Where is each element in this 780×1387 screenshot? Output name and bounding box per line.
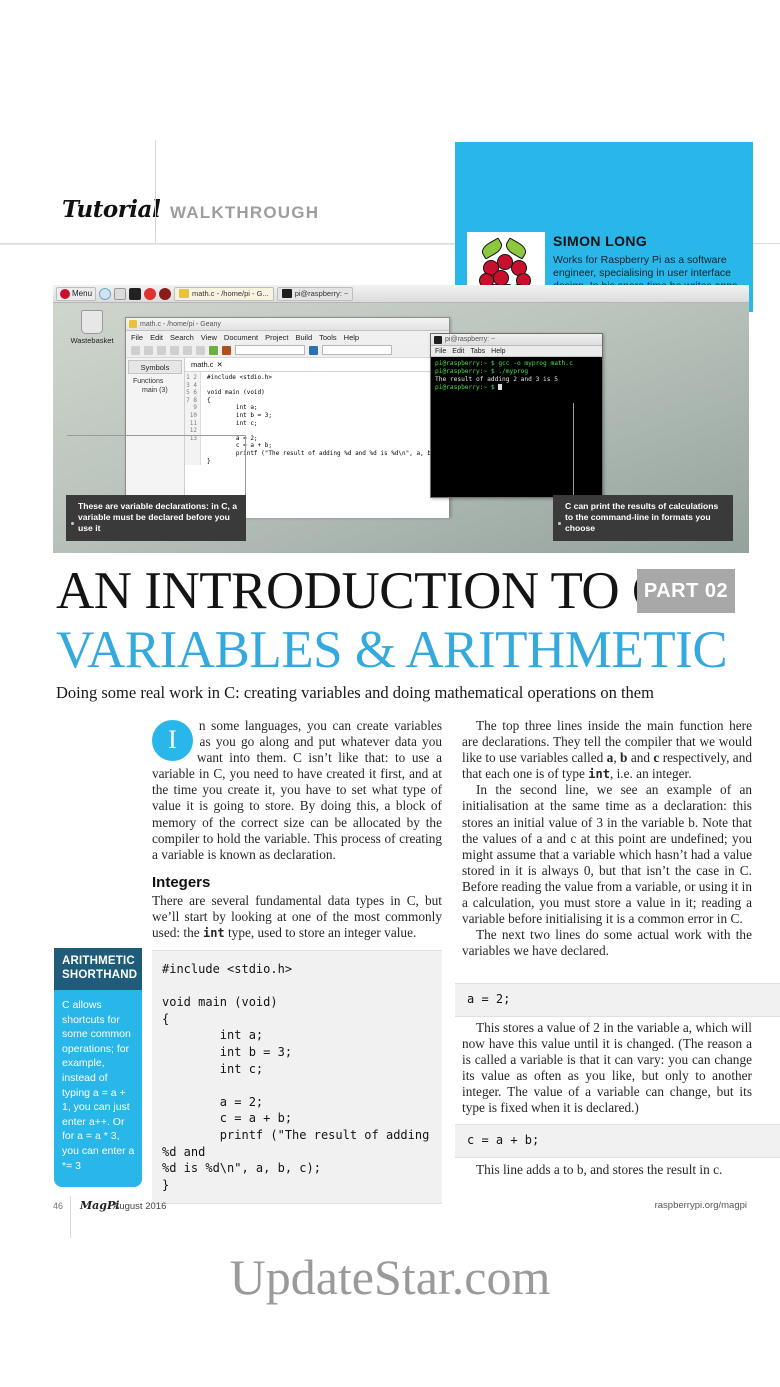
geany-menubar[interactable]: File Edit Search View Document Project B… [126, 331, 449, 343]
callout-right-text: C can print the results of calculations … [565, 501, 725, 534]
right-paragraph-3: The next two lines do some actual work w… [462, 927, 752, 959]
geany-titlebar-icon [129, 320, 137, 328]
search-icon[interactable] [309, 346, 318, 355]
raspberry-menu-icon [60, 289, 70, 299]
right-paragraph-2: In the second line, we see an example of… [462, 782, 752, 927]
author-name: SIMON LONG [553, 233, 647, 249]
compile-icon[interactable] [209, 346, 218, 355]
main-code-listing-text: #include <stdio.h> void main (void) { in… [152, 950, 442, 1204]
right-paragraph-5-wrap: This line adds a to b, and stores the re… [462, 1162, 752, 1178]
geany-menu-search[interactable]: Search [170, 333, 194, 342]
sidebar-item-main[interactable]: main (3) [126, 385, 184, 394]
new-file-icon[interactable] [131, 346, 140, 355]
revert-icon[interactable] [170, 346, 179, 355]
code-snippet-c: c = a + b; [455, 1124, 780, 1158]
editor-file-tab-close-icon[interactable]: ✕ [216, 360, 222, 369]
arithmetic-shorthand-title-1: ARITHMETIC [62, 955, 135, 969]
terminal-window-icon [282, 289, 292, 298]
header-kicker: WALKTHROUGH [170, 203, 319, 223]
geany-editor[interactable]: math.c ✕ 1 2 3 4 5 6 7 8 9 10 11 12 13 #… [185, 358, 449, 518]
footer-issue-date: August 2016 [113, 1201, 166, 1212]
open-file-icon[interactable] [144, 346, 153, 355]
drop-cap: I [152, 720, 193, 761]
right-p1-c: and [627, 750, 653, 765]
build-icon[interactable] [222, 346, 231, 355]
article-subtitle: Doing some real work in C: creating vari… [56, 683, 756, 703]
part-badge-label: PART 02 [644, 580, 728, 603]
terminal-output[interactable]: pi@raspberry:~ $ gcc -o myprog math.c pi… [431, 357, 602, 395]
sidebar-item-functions[interactable]: Functions [126, 376, 184, 385]
header-divider [155, 192, 156, 232]
integers-text-2: type, used to store an integer value. [225, 925, 417, 940]
left-column: In some languages, you can create variab… [152, 718, 442, 941]
callout-left-dot [71, 522, 74, 525]
geany-sidebar[interactable]: Symbols Functions main (3) [126, 358, 185, 518]
arithmetic-shorthand-header: ARITHMETIC SHORTHAND [54, 948, 142, 990]
terminal-line-3: The result of adding 2 and 3 is 5 [435, 376, 558, 383]
geany-menu-build[interactable]: Build [295, 333, 312, 342]
geany-menu-tools[interactable]: Tools [319, 333, 337, 342]
callout-leader-left [245, 435, 246, 497]
file-manager-icon[interactable] [114, 288, 126, 300]
watermark: UpdateStar.com [0, 1248, 780, 1306]
editor-code-text: #include <stdio.h> void main (void) { in… [201, 372, 449, 465]
arithmetic-shorthand-box: ARITHMETIC SHORTHAND C allows shortcuts … [54, 948, 142, 1187]
right-p1-e: , i.e. an integer. [610, 766, 692, 781]
terminal-titlebar-icon [434, 336, 442, 344]
menu-label: Menu [72, 289, 92, 298]
terminal-menu-tabs[interactable]: Tabs [470, 348, 485, 355]
geany-menu-project[interactable]: Project [265, 333, 288, 342]
geany-titlebar: math.c - /home/pi - Geany [126, 318, 449, 331]
editor-line-numbers: 1 2 3 4 5 6 7 8 9 10 11 12 13 [185, 372, 201, 465]
hero-screenshot: Menu math.c - /home/pi - G... pi@raspber… [53, 285, 749, 553]
geany-menu-file[interactable]: File [131, 333, 143, 342]
terminal-titlebar: pi@raspberry: ~ [431, 334, 602, 346]
integers-paragraph: There are several fundamental data types… [152, 893, 442, 941]
browser-icon[interactable] [99, 288, 111, 300]
arithmetic-shorthand-title-2: SHORTHAND [62, 969, 135, 983]
code-snippet-a-text: a = 2; [455, 983, 780, 1017]
right-paragraph-4: This stores a value of 2 in the variable… [462, 1020, 752, 1117]
callout-leader-right [573, 403, 574, 497]
callout-right-dot [558, 522, 561, 525]
terminal-title: pi@raspberry: ~ [445, 336, 495, 343]
magazine-page: Tutorial WALKTHROUGH SIMON LONG Works fo… [0, 0, 780, 1387]
callout-left-text: These are variable declarations: in C, a… [78, 501, 238, 534]
geany-title: math.c - /home/pi - Geany [140, 321, 221, 328]
code-snippet-a: a = 2; [455, 983, 780, 1017]
code-snippet-c-text: c = a + b; [455, 1124, 780, 1158]
editor-file-tab-label: math.c [191, 360, 214, 369]
terminal-menubar[interactable]: File Edit Tabs Help [431, 346, 602, 357]
heading-integers: Integers [152, 875, 442, 891]
close-icon[interactable] [183, 346, 192, 355]
footer-page-number: 46 [53, 1201, 63, 1211]
article-title-line1: AN INTRODUCTION TO C [56, 563, 667, 619]
footer-url[interactable]: raspberrypi.org/magpi [655, 1200, 747, 1211]
undo-icon[interactable] [196, 346, 205, 355]
toolbar-search-input[interactable] [235, 345, 305, 355]
sidebar-tab-symbols[interactable]: Symbols [128, 360, 182, 374]
right-paragraph-1: The top three lines inside the main func… [462, 718, 752, 782]
intro-paragraph: In some languages, you can create variab… [152, 718, 442, 863]
part-badge: PART 02 [637, 569, 735, 613]
wolfram-icon[interactable] [159, 288, 171, 300]
geany-menu-view[interactable]: View [201, 333, 217, 342]
editor-file-tab[interactable]: math.c ✕ [185, 358, 449, 372]
terminal-menu-edit[interactable]: Edit [452, 348, 464, 355]
arithmetic-shorthand-body: C allows shortcuts for some common opera… [54, 990, 142, 1187]
terminal-line-2: pi@raspberry:~ $ ./myprog [435, 368, 528, 375]
terminal-window[interactable]: pi@raspberry: ~ File Edit Tabs Help pi@r… [430, 333, 603, 498]
header-rule-secondary [0, 244, 455, 245]
geany-window-icon [179, 289, 189, 298]
taskbar-window-geany[interactable]: math.c - /home/pi - G... [174, 287, 274, 301]
editor-code-area[interactable]: 1 2 3 4 5 6 7 8 9 10 11 12 13 #include <… [185, 372, 449, 465]
right-paragraph-4-wrap: This stores a value of 2 in the variable… [462, 1020, 752, 1117]
wastebasket-label: Wastebasket [65, 336, 119, 345]
article-title-line2: VARIABLES & ARITHMETIC [56, 622, 727, 678]
terminal-line-4: pi@raspberry:~ $ [435, 384, 498, 391]
terminal-cursor [498, 384, 502, 390]
left-column-body: In some languages, you can create variab… [152, 718, 442, 941]
mathematica-icon[interactable] [144, 288, 156, 300]
main-code-listing: #include <stdio.h> void main (void) { in… [152, 950, 442, 1204]
integers-mono-keyword: int [203, 926, 225, 940]
geany-menu-edit[interactable]: Edit [150, 333, 163, 342]
callout-leader-left-h [67, 435, 245, 436]
wastebasket-icon [81, 310, 103, 334]
desktop-icon-wastebasket[interactable]: Wastebasket [65, 310, 119, 345]
taskbar-window-terminal[interactable]: pi@raspberry: ~ [277, 287, 354, 301]
geany-body: Symbols Functions main (3) math.c ✕ 1 2 … [126, 358, 449, 518]
desktop-taskbar: Menu math.c - /home/pi - G... pi@raspber… [53, 285, 749, 303]
right-column: The top three lines inside the main func… [462, 718, 752, 959]
right-column-body: The top three lines inside the main func… [462, 718, 752, 959]
terminal-line-1: pi@raspberry:~ $ gcc -o myprog math.c [435, 360, 573, 367]
callout-left: These are variable declarations: in C, a… [66, 495, 246, 541]
section-label: Tutorial [62, 196, 160, 223]
callout-right: C can print the results of calculations … [553, 495, 733, 541]
intro-paragraph-text: n some languages, you can create variabl… [152, 718, 442, 862]
type-int: int [588, 767, 610, 781]
terminal-icon[interactable] [129, 288, 141, 300]
geany-menu-document[interactable]: Document [224, 333, 258, 342]
toolbar-goto-input[interactable] [322, 345, 392, 355]
geany-window[interactable]: math.c - /home/pi - Geany File Edit Sear… [125, 317, 450, 517]
taskbar-window-terminal-label: pi@raspberry: ~ [295, 289, 349, 298]
taskbar-window-geany-label: math.c - /home/pi - G... [192, 289, 269, 298]
geany-toolbar[interactable] [126, 343, 449, 358]
terminal-menu-help[interactable]: Help [491, 348, 505, 355]
menu-button[interactable]: Menu [56, 287, 96, 301]
terminal-menu-file[interactable]: File [435, 348, 446, 355]
raspberry-pi-desktop: Menu math.c - /home/pi - G... pi@raspber… [53, 285, 749, 553]
geany-menu-help[interactable]: Help [344, 333, 359, 342]
right-paragraph-5: This line adds a to b, and stores the re… [462, 1162, 752, 1178]
save-icon[interactable] [157, 346, 166, 355]
footer-rule [70, 1196, 71, 1238]
